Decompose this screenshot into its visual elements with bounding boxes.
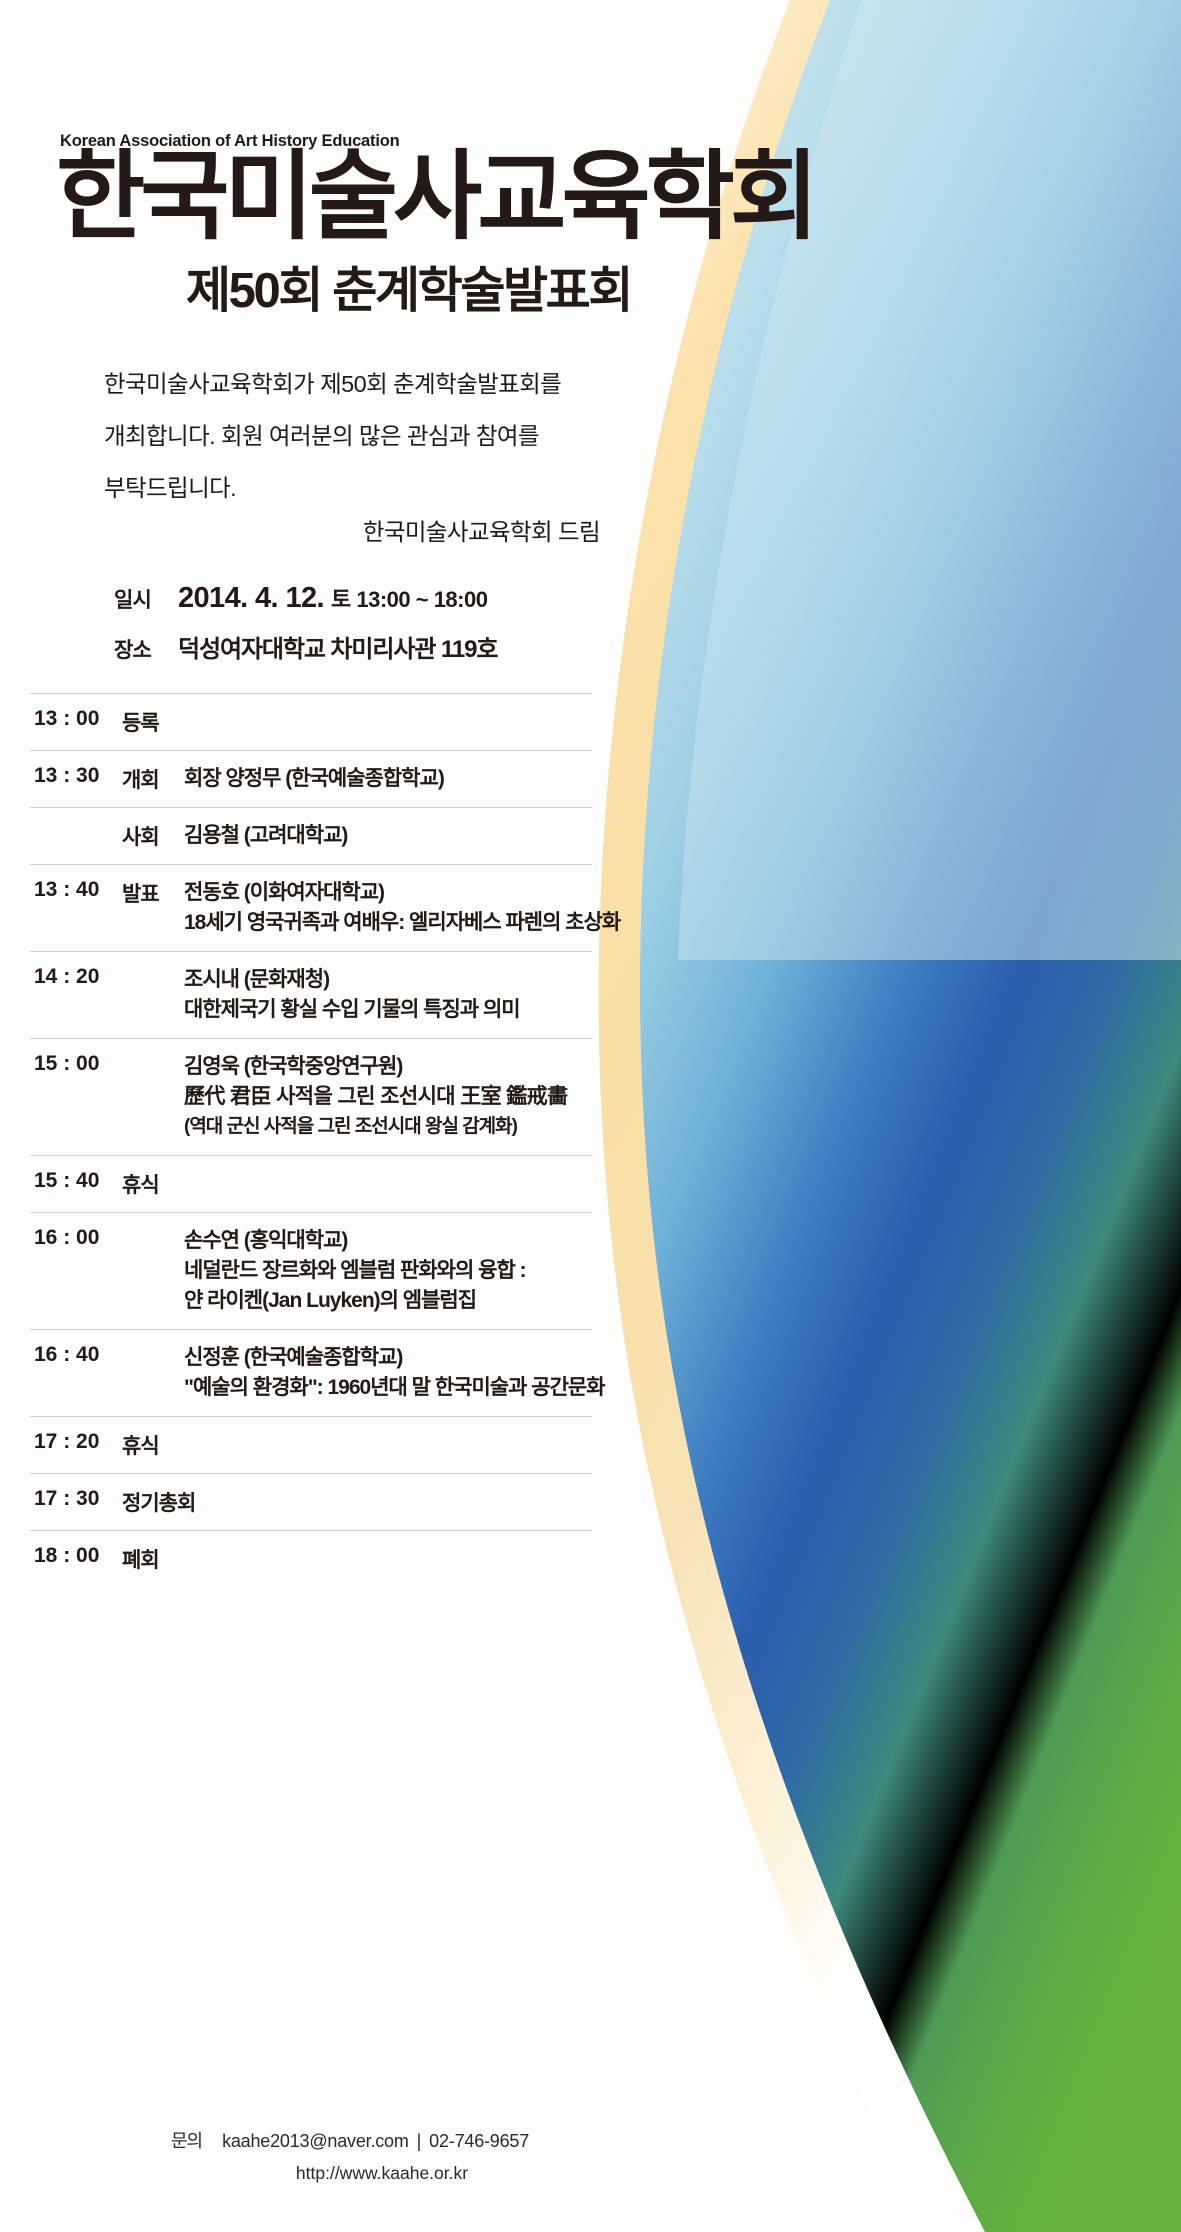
- schedule-body: 회장 양정무 (한국예술종합학교): [184, 764, 592, 794]
- schedule-row: 15 : 00김영욱 (한국학중앙연구원)歷代 君臣 사적을 그린 조선시대 王…: [30, 1038, 592, 1155]
- schedule-kind: 휴식: [122, 1169, 184, 1199]
- schedule-kind: 사회: [122, 821, 184, 851]
- schedule-body-line: 조시내 (문화재청): [184, 965, 592, 995]
- schedule-body: 조시내 (문화재청)대한제국기 황실 수입 기물의 특징과 의미: [184, 965, 592, 1025]
- schedule-body: 김영욱 (한국학중앙연구원)歷代 君臣 사적을 그린 조선시대 王室 鑑戒畵(역…: [184, 1052, 592, 1142]
- schedule-row: 18 : 00폐회: [30, 1530, 592, 1587]
- schedule-body: 전동호 (이화여자대학교)18세기 영국귀족과 여배우: 엘리자베스 파렌의 초…: [184, 878, 620, 938]
- schedule-row: 16 : 00손수연 (홍익대학교)네덜란드 장르화와 엠블럼 판화와의 융합 …: [30, 1212, 592, 1329]
- schedule-kind: 등록: [122, 707, 184, 737]
- date-time-range: 토 13:00 ~ 18:00: [331, 582, 487, 614]
- schedule-time: 13 : 40: [30, 878, 122, 938]
- contact-phone: 02-746-9657: [429, 2131, 529, 2151]
- schedule-time: 14 : 20: [30, 965, 122, 1025]
- schedule-body-line: 김영욱 (한국학중앙연구원): [184, 1052, 592, 1082]
- schedule-row: 14 : 20조시내 (문화재청)대한제국기 황실 수입 기물의 특징과 의미: [30, 951, 592, 1038]
- schedule-row: 16 : 40신정훈 (한국예술종합학교)"예술의 환경화": 1960년대 말…: [30, 1329, 592, 1416]
- schedule-body-line: 전동호 (이화여자대학교): [184, 878, 620, 908]
- schedule-kind: [122, 1343, 184, 1403]
- schedule-row: 13 : 30개회회장 양정무 (한국예술종합학교): [30, 750, 592, 807]
- schedule-body: [184, 707, 592, 737]
- event-venue-row: 장소 덕성여자대학교 차미리사관 119호: [114, 629, 497, 664]
- schedule-kind: 폐회: [122, 1544, 184, 1574]
- schedule-time: 18 : 00: [30, 1544, 122, 1574]
- schedule-row: 17 : 30정기총회: [30, 1473, 592, 1530]
- schedule-kind: 발표: [122, 878, 184, 938]
- schedule-table: 13 : 00등록13 : 30개회회장 양정무 (한국예술종합학교)사회김용철…: [30, 693, 592, 1587]
- schedule-row: 사회김용철 (고려대학교): [30, 807, 592, 864]
- event-subtitle: 제50회 춘계학술발표회: [186, 267, 631, 316]
- schedule-body: 김용철 (고려대학교): [184, 821, 592, 851]
- schedule-kind: [122, 1226, 184, 1316]
- schedule-body-line: 얀 라이켄(Jan Luyken)의 엠블럼집: [184, 1286, 592, 1316]
- venue-value: 덕성여자대학교 차미리사관 119호: [178, 629, 497, 664]
- footer-contact-line: 문의kaahe2013@naver.com|02-746-9657: [0, 2127, 700, 2153]
- schedule-kind: 개회: [122, 764, 184, 794]
- invitation-line-1: 한국미술사교육학회가 제50회 춘계학술발표회를: [104, 358, 664, 410]
- schedule-row: 17 : 20휴식: [30, 1416, 592, 1473]
- schedule-body: 신정훈 (한국예술종합학교)"예술의 환경화": 1960년대 말 한국미술과 …: [184, 1343, 605, 1403]
- schedule-body: [184, 1169, 592, 1199]
- venue-label: 장소: [114, 634, 178, 664]
- schedule-kind: [122, 965, 184, 1025]
- event-details: 일시 2014. 4. 12. 토 13:00 ~ 18:00 장소 덕성여자대…: [114, 582, 497, 664]
- schedule-time: 16 : 00: [30, 1226, 122, 1316]
- schedule-time: 16 : 40: [30, 1343, 122, 1403]
- schedule-body-line: 歷代 君臣 사적을 그린 조선시대 王室 鑑戒畵: [184, 1082, 592, 1112]
- invitation-signoff: 한국미술사교육학회 드림: [104, 518, 600, 546]
- date-label: 일시: [114, 584, 178, 614]
- schedule-row: 13 : 40발표전동호 (이화여자대학교)18세기 영국귀족과 여배우: 엘리…: [30, 864, 592, 951]
- schedule-body-line: "예술의 환경화": 1960년대 말 한국미술과 공간문화: [184, 1373, 605, 1403]
- schedule-body-line: 네덜란드 장르화와 엠블럼 판화와의 융합 :: [184, 1256, 592, 1286]
- schedule-body-line: 대한제국기 황실 수입 기물의 특징과 의미: [184, 995, 592, 1025]
- schedule-time: 13 : 30: [30, 764, 122, 794]
- schedule-time: 17 : 20: [30, 1430, 122, 1460]
- schedule-time: 17 : 30: [30, 1487, 122, 1517]
- schedule-time: 13 : 00: [30, 707, 122, 737]
- invitation-paragraph: 한국미술사교육학회가 제50회 춘계학술발표회를 개최합니다. 회원 여러분의 …: [104, 358, 664, 514]
- schedule-body: 손수연 (홍익대학교)네덜란드 장르화와 엠블럼 판화와의 융합 :얀 라이켄(…: [184, 1226, 592, 1316]
- schedule-kind: [122, 1052, 184, 1142]
- poster-root: Korean Association of Art History Educat…: [0, 0, 1181, 2232]
- schedule-body-line: 김용철 (고려대학교): [184, 821, 592, 851]
- schedule-kind: 정기총회: [122, 1487, 195, 1517]
- date-value: 2014. 4. 12.: [178, 582, 324, 615]
- schedule-body: [184, 1544, 592, 1574]
- schedule-kind: 휴식: [122, 1430, 184, 1460]
- schedule-row: 13 : 00등록: [30, 693, 592, 750]
- poster-content: Korean Association of Art History Educat…: [0, 0, 1181, 2232]
- contact-separator: |: [417, 2131, 421, 2151]
- schedule-time: 15 : 40: [30, 1169, 122, 1199]
- schedule-body-line: 손수연 (홍익대학교): [184, 1226, 592, 1256]
- schedule-body: [195, 1487, 592, 1517]
- schedule-body-line: 회장 양정무 (한국예술종합학교): [184, 764, 592, 794]
- invitation-line-2: 개최합니다. 회원 여러분의 많은 관심과 참여를: [104, 410, 664, 462]
- schedule-body-line: (역대 군신 사적을 그린 조선시대 왕실 감계화): [184, 1112, 592, 1142]
- footer-website[interactable]: http://www.kaahe.or.kr: [64, 2163, 700, 2184]
- contact-label: 문의: [171, 2131, 202, 2151]
- schedule-body-line: 18세기 영국귀족과 여배우: 엘리자베스 파렌의 초상화: [184, 908, 620, 938]
- page-title: 한국미술사교육학회: [56, 148, 814, 245]
- event-date-row: 일시 2014. 4. 12. 토 13:00 ~ 18:00: [114, 582, 497, 615]
- invitation-line-3: 부탁드립니다.: [104, 462, 664, 514]
- footer: 문의kaahe2013@naver.com|02-746-9657 http:/…: [0, 2127, 700, 2184]
- contact-email[interactable]: kaahe2013@naver.com: [222, 2131, 409, 2151]
- schedule-row: 15 : 40휴식: [30, 1155, 592, 1212]
- schedule-time: 15 : 00: [30, 1052, 122, 1142]
- schedule-body-line: 신정훈 (한국예술종합학교): [184, 1343, 605, 1373]
- schedule-body: [184, 1430, 592, 1460]
- schedule-time: [30, 821, 122, 851]
